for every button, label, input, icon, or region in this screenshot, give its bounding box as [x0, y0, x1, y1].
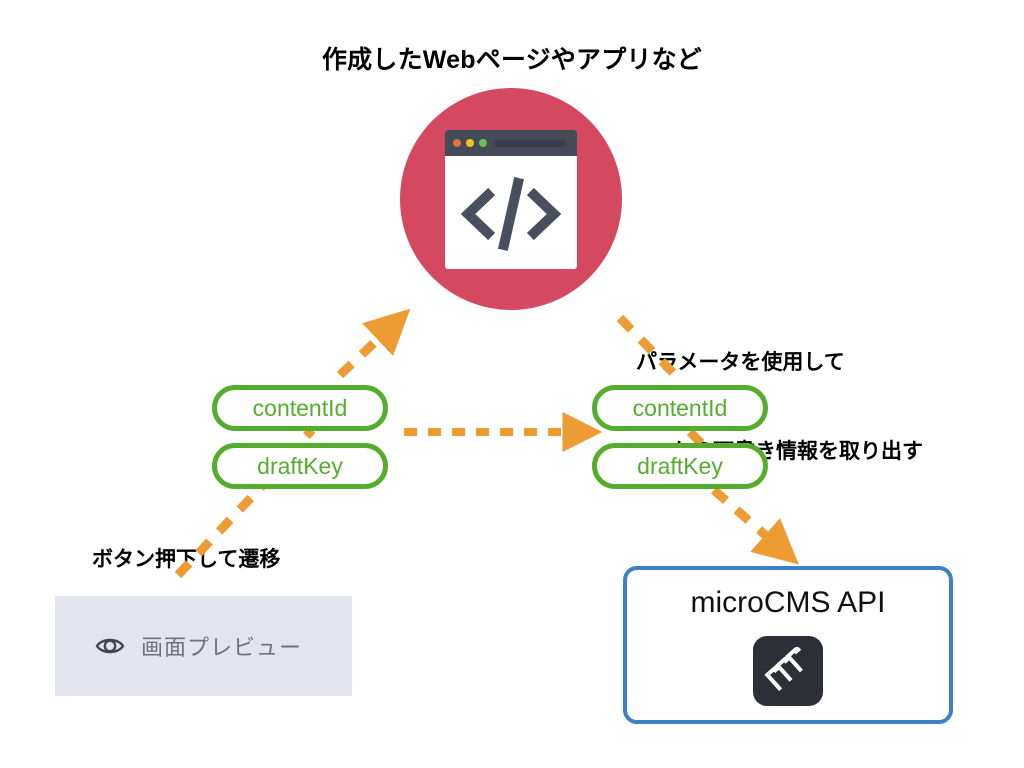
green-dot-icon	[479, 139, 487, 147]
param-box-left-contentid[interactable]: contentId	[212, 385, 388, 431]
page-title: 作成したWebページやアプリなど	[0, 40, 1024, 76]
param-label: contentId	[633, 395, 728, 422]
code-browser-icon	[400, 88, 622, 310]
arrow-params-to-page	[340, 326, 392, 375]
address-bar-placeholder	[494, 140, 566, 147]
param-label: contentId	[253, 395, 348, 422]
orange-dot-icon	[453, 139, 461, 147]
yellow-dot-icon	[466, 139, 474, 147]
param-label: draftKey	[637, 453, 723, 480]
microcms-api-card[interactable]: microCMS API	[623, 566, 953, 724]
browser-titlebar	[445, 130, 577, 156]
param-label: draftKey	[257, 453, 343, 480]
param-box-left-draftkey[interactable]: draftKey	[212, 443, 388, 489]
microcms-logo-icon	[753, 636, 823, 706]
eye-icon	[95, 631, 125, 661]
annotation-line-1: パラメータを使用して	[636, 348, 923, 378]
code-tag-icon	[445, 156, 577, 269]
api-card-title: microCMS API	[627, 586, 949, 620]
preview-button-label: 画面プレビュー	[141, 630, 302, 662]
diagram-canvas: 作成したWebページやアプリなど	[0, 0, 1024, 768]
param-box-right-contentid[interactable]: contentId	[592, 385, 768, 431]
param-box-right-draftkey[interactable]: draftKey	[592, 443, 768, 489]
preview-button[interactable]: 画面プレビュー	[55, 596, 352, 696]
annotation-button-press: ボタン押下して遷移	[92, 545, 280, 575]
browser-window-graphic	[445, 130, 577, 269]
